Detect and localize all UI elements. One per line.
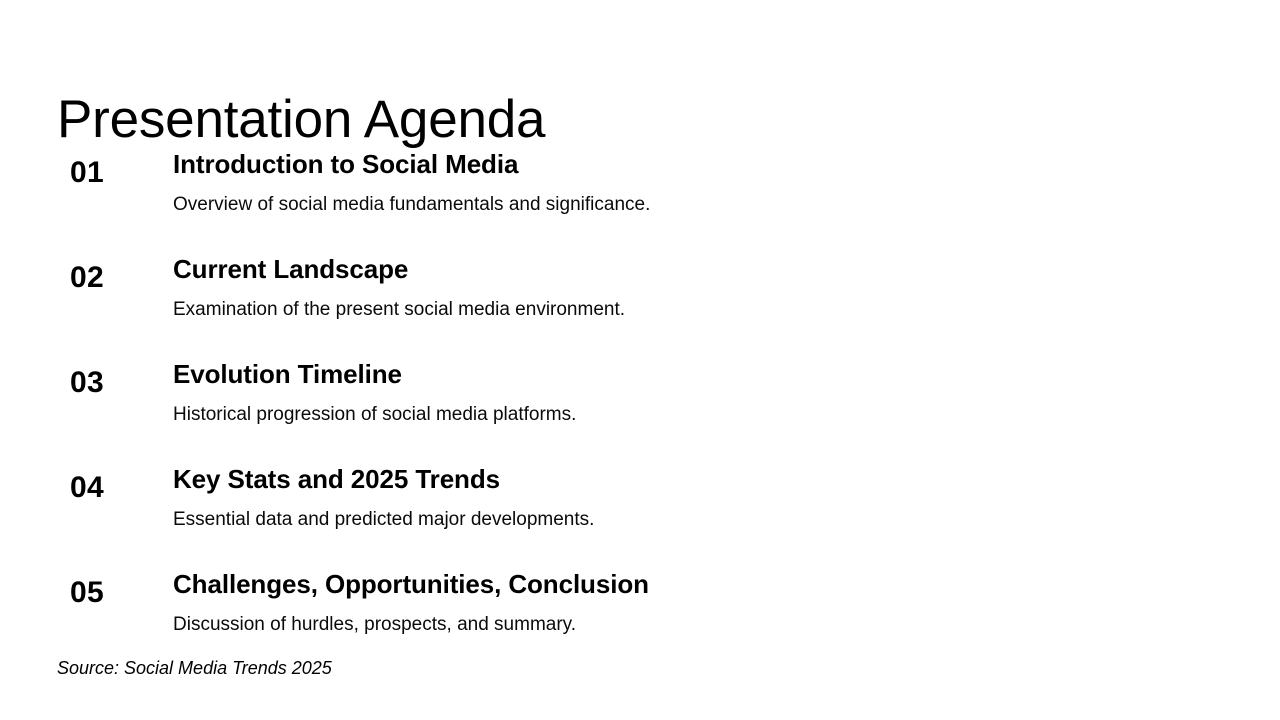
agenda-item-subtitle: Overview of social media fundamentals an… — [173, 193, 1260, 218]
agenda-item-heading: Current Landscape — [173, 253, 1260, 286]
agenda-item-heading: Challenges, Opportunities, Conclusion — [173, 568, 1260, 601]
agenda-item-number: 02 — [70, 260, 160, 296]
agenda-item-heading: Key Stats and 2025 Trends — [173, 463, 1260, 496]
agenda-item-heading: Evolution Timeline — [173, 358, 1260, 391]
agenda-item-subtitle: Examination of the present social media … — [173, 298, 1260, 323]
agenda-item-subtitle: Essential data and predicted major devel… — [173, 508, 1260, 533]
page-title: Presentation Agenda — [57, 91, 545, 148]
agenda-item-subtitle: Discussion of hurdles, prospects, and su… — [173, 613, 1260, 638]
agenda-item-body: Challenges, Opportunities, Conclusion Di… — [173, 568, 1260, 637]
agenda-item-number: 05 — [70, 575, 160, 611]
agenda-item-body: Evolution Timeline Historical progressio… — [173, 358, 1260, 427]
agenda-list: 01 Introduction to Social Media Overview… — [0, 148, 1280, 673]
agenda-item-body: Introduction to Social Media Overview of… — [173, 148, 1260, 217]
list-item[interactable]: 03 Evolution Timeline Historical progres… — [0, 358, 1280, 463]
agenda-item-number: 03 — [70, 365, 160, 401]
agenda-item-number: 04 — [70, 470, 160, 506]
list-item[interactable]: 02 Current Landscape Examination of the … — [0, 253, 1280, 358]
list-item[interactable]: 01 Introduction to Social Media Overview… — [0, 148, 1280, 253]
list-item[interactable]: 04 Key Stats and 2025 Trends Essential d… — [0, 463, 1280, 568]
agenda-item-body: Current Landscape Examination of the pre… — [173, 253, 1260, 322]
agenda-item-heading: Introduction to Social Media — [173, 148, 1260, 181]
source-note: Source: Social Media Trends 2025 — [57, 657, 332, 680]
agenda-item-subtitle: Historical progression of social media p… — [173, 403, 1260, 428]
agenda-item-body: Key Stats and 2025 Trends Essential data… — [173, 463, 1260, 532]
agenda-item-number: 01 — [70, 155, 160, 191]
presentation-slide: Presentation Agenda 01 Introduction to S… — [0, 0, 1280, 720]
